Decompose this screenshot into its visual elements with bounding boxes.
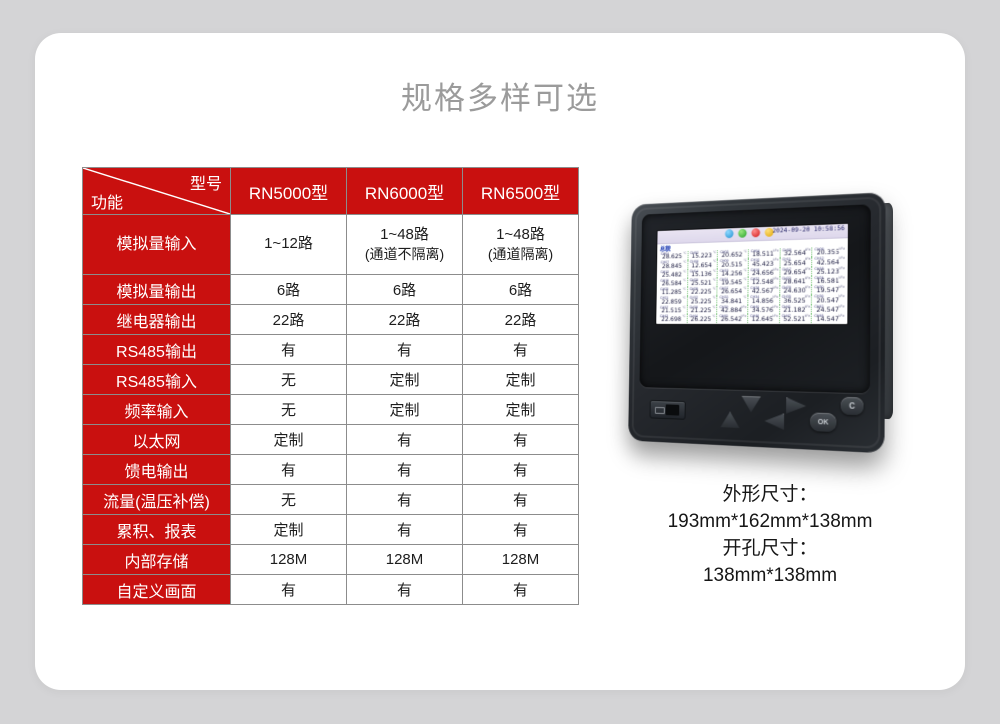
channel-unit: kPa [805,295,811,299]
channel-value: 26.225 [687,315,714,323]
channel-unit: kPa [772,304,777,308]
channel-unit: kPa [773,258,778,262]
device-body: 2024-09-20 10:58:56 总貌 CH01℃28.625CH02℃1… [628,192,885,453]
cell-value: 有 [463,335,579,365]
cell-value: 有 [463,515,579,545]
channel-cell: CH19℃26.584 [659,278,688,287]
channel-cell: CH37℃21.515 [658,305,687,314]
dimensions-block: 外形尺寸： 193mm*162mm*138mm 开孔尺寸： 138mm*138m… [600,481,940,589]
cell-value: 有 [347,515,463,545]
cell-value: 有 [347,425,463,455]
channel-cell: CH41kPa21.182 [780,304,812,314]
screen-statusbar: 2024-09-20 10:58:56 [657,224,848,245]
content-card: 规格多样可选 型号功能RN5000型RN6000型RN6500型模拟量输入1~1… [35,33,965,690]
outline-dimension-label: 外形尺寸： [600,481,940,508]
channel-cell: CH25℃11.285 [658,287,687,296]
settings-icon[interactable] [765,228,774,237]
channel-value: 45.423 [749,259,778,268]
channel-unit: kPa [805,285,811,289]
channel-unit: kPa [805,314,811,318]
channel-unit: kPa [773,267,778,271]
table-row: RS485输出有有有 [83,335,579,365]
key-up[interactable] [720,411,739,428]
channel-cell: CH32℃25.225 [688,296,718,305]
channel-value: 21.515 [658,306,685,314]
channel-cell: CH23kPa28.641 [780,276,812,286]
channel-unit: kPa [839,256,845,260]
cell-value: 有 [463,455,579,485]
channel-value: 24.630 [780,287,809,295]
channel-value: 29.654 [780,268,809,277]
channel-cell: CH24kPa16.581 [812,275,845,285]
channel-name: CH35 [782,295,791,299]
table-corner-cell: 型号功能 [83,168,231,215]
channel-name: CH17 [782,267,791,271]
channel-name: CH18 [814,266,823,270]
cell-value: 有 [231,455,347,485]
page-title: 规格多样可选 [35,73,965,118]
feature-label: 继电器输出 [83,305,231,335]
cell-sub: (通道隔离) [463,245,578,264]
channel-unit: kPa [839,313,845,317]
corner-model-label: 型号 [190,170,222,194]
cell-sub: (通道不隔离) [347,245,462,264]
spec-table-body: 型号功能RN5000型RN6000型RN6500型模拟量输入1~12路1~48路… [83,168,579,605]
channel-grid: CH01℃28.625CH02℃15.223CH03℃20.652CH04kPa… [658,247,846,324]
cell-value: 无 [231,485,347,515]
channel-unit: kPa [839,304,845,308]
channel-name: CH48 [814,314,823,318]
pen-icon[interactable] [725,229,734,238]
table-row: 模拟量输入1~12路1~48路(通道不隔离)1~48路(通道隔离) [83,215,579,275]
feature-label: 累积、报表 [83,515,231,545]
cell-value: 22路 [347,305,463,335]
channel-unit: kPa [805,276,811,280]
channel-cell: CH12kPa42.564 [812,256,845,266]
cutout-dimension-label: 开孔尺寸： [600,535,940,562]
device-screen[interactable]: 2024-09-20 10:58:56 总貌 CH01℃28.625CH02℃1… [656,224,848,324]
channel-cell: CH27℃26.654 [718,286,749,296]
channel-cell: CH16kPa24.656 [749,267,781,277]
outline-dimension-value: 193mm*162mm*138mm [600,508,940,535]
channel-cell: CH10kPa45.423 [749,258,781,268]
channel-cell: CH48kPa14.547 [812,313,845,323]
channel-cell: CH28kPa42.567 [748,286,780,296]
channel-value: 28.641 [780,277,809,286]
channel-value: 22.698 [658,315,685,323]
channel-unit: kPa [839,294,845,298]
channel-value: 20.547 [812,296,843,304]
key-ok[interactable]: OK [810,412,837,432]
table-row: 频率输入无定制定制 [83,395,579,425]
channel-name: CH23 [782,276,791,280]
feature-label: 流量(温压补偿) [83,485,231,515]
feature-label: 内部存储 [83,545,231,575]
cell-value: 有 [463,425,579,455]
channel-name: CH06 [815,247,824,251]
channel-unit: kPa [839,247,845,251]
usb-port-icon[interactable] [650,400,686,420]
table-row: 自定义画面有有有 [83,575,579,605]
channel-unit: kPa [773,276,778,280]
channel-unit: kPa [805,257,811,261]
cell-main: 1~48路 [496,226,545,243]
feature-label: 自定义画面 [83,575,231,605]
channel-cell: CH35kPa36.525 [780,295,812,305]
screen-timestamp: 2024-09-20 10:58:56 [772,225,844,235]
channel-unit: kPa [839,285,845,289]
table-row: 内部存储128M128M128M [83,545,579,575]
channel-cell: CH04kPa18.511 [749,248,781,258]
cell-value: 22路 [463,305,579,335]
channel-cell: CH43℃22.698 [658,314,687,323]
channel-value: 42.564 [812,257,843,266]
channel-unit: kPa [773,295,778,299]
channel-cell: CH31℃22.859 [658,296,687,305]
channel-name: CH05 [782,248,791,252]
channel-value: 16.581 [812,276,843,285]
channel-cell: CH33℃34.841 [718,295,749,304]
channel-value: 22.859 [658,297,685,305]
cell-value: 有 [463,485,579,515]
channel-value: 34.576 [748,306,777,314]
channel-value: 21.225 [687,306,714,314]
cell-value: 无 [231,395,347,425]
corner-feature-label: 功能 [91,189,123,213]
key-right[interactable] [786,397,806,414]
alarm-icon[interactable] [751,228,760,237]
channel-value: 26.542 [717,315,745,323]
feature-label: 模拟量输入 [83,215,231,275]
cell-value: 有 [231,335,347,365]
channel-value: 25.123 [812,267,843,276]
channel-value: 42.567 [748,287,777,295]
cell-value: 有 [347,455,463,485]
channel-unit: kPa [805,248,811,252]
table-column-header-3: RN6500型 [463,168,579,215]
screen-status-icons [725,228,774,239]
table-column-header-1: RN5000型 [231,168,347,215]
paperless-recorder-device: 2024-09-20 10:58:56 总貌 CH01℃28.625CH02℃1… [628,192,885,453]
channel-cell: CH21℃19.545 [718,277,749,287]
cell-value: 定制 [463,395,579,425]
channel-cell: CH05kPa32.564 [780,247,812,257]
channel-value: 52.521 [780,315,809,323]
channel-value: 25.225 [688,297,715,305]
key-down[interactable] [741,396,760,413]
specification-table: 型号功能RN5000型RN6000型RN6500型模拟量输入1~12路1~48路… [82,167,579,605]
channel-value: 24.547 [812,305,843,313]
cell-value: 有 [231,575,347,605]
channel-value: 20.355 [813,248,844,257]
channel-cell: CH42kPa24.547 [812,304,845,314]
cell-value: 定制 [463,365,579,395]
channel-unit: kPa [839,275,845,279]
channel-value: 21.182 [780,305,809,313]
cell-value: 128M [463,545,579,575]
table-row: 继电器输出22路22路22路 [83,305,579,335]
cell-value: 有 [347,335,463,365]
cell-value: 22路 [231,305,347,335]
channel-name: CH24 [814,276,823,280]
channel-value: 24.656 [749,268,778,277]
channel-cell: CH11kPa25.654 [780,257,812,267]
table-row: 模拟量输出6路6路6路 [83,275,579,305]
channel-cell: CH39kPa42.884 [717,305,748,314]
channel-cell: CH06kPa20.355 [813,247,846,257]
channel-unit: kPa [805,304,811,308]
channel-value: 14.547 [812,315,843,323]
cell-value: 有 [463,575,579,605]
cell-value: 有 [347,575,463,605]
channel-value: 14.856 [748,296,777,304]
key-left[interactable] [764,413,784,430]
channel-cell: CH44℃26.225 [687,314,717,323]
channel-cell: CH36kPa20.547 [812,294,845,304]
channel-name: CH42 [814,304,823,308]
feature-label: 以太网 [83,425,231,455]
feature-label: RS485输出 [83,335,231,365]
channel-cell: CH45kPa26.542 [717,314,748,323]
cell-value: 定制 [347,365,463,395]
cell-value: 128M [347,545,463,575]
channel-value: 25.654 [780,258,809,267]
channel-name: CH29 [782,286,791,290]
channel-cell: CH40kPa34.576 [748,304,780,313]
cell-value: 1~48路(通道不隔离) [347,215,463,275]
table-header-row: 型号功能RN5000型RN6000型RN6500型 [83,168,579,215]
channel-cell: CH18kPa25.123 [812,266,845,276]
cell-value: 6路 [347,275,463,305]
device-illustration: 2024-09-20 10:58:56 总貌 CH01℃28.625CH02℃1… [600,188,940,478]
cell-value: 1~48路(通道隔离) [463,215,579,275]
channel-value: 34.841 [718,297,746,305]
channel-name: CH11 [782,257,791,261]
channel-value: 32.564 [780,249,809,258]
feature-label: 模拟量输出 [83,275,231,305]
key-cancel[interactable]: C [841,397,864,416]
cell-value: 无 [231,365,347,395]
channel-cell: CH46kPa12.645 [748,314,780,323]
channel-value: 12.645 [748,315,777,323]
cell-value: 定制 [231,425,347,455]
channel-value: 42.884 [717,306,745,314]
cell-value: 6路 [463,275,579,305]
channel-cell: CH30kPa19.547 [812,285,845,295]
channel-cell: CH29kPa24.630 [780,285,812,295]
channel-unit: kPa [773,248,778,252]
device-bezel: 2024-09-20 10:58:56 总貌 CH01℃28.625CH02℃1… [639,204,870,393]
channel-value: 18.511 [749,250,778,259]
cell-main: 1~48路 [380,226,429,243]
cell-value: 128M [231,545,347,575]
table-column-header-2: RN6000型 [347,168,463,215]
channel-unit: kPa [839,266,845,270]
channel-name: CH41 [782,304,791,308]
channel-name: CH47 [782,314,791,318]
feature-label: 频率输入 [83,395,231,425]
channel-cell: CH34kPa14.856 [748,295,780,305]
cell-value: 6路 [231,275,347,305]
feature-label: RS485输入 [83,365,231,395]
channel-value: 12.548 [749,278,778,286]
channel-value: 36.525 [780,296,809,304]
table-row: 流量(温压补偿)无有有 [83,485,579,515]
channel-unit: kPa [805,266,811,270]
cell-value: 定制 [231,515,347,545]
channel-cell: CH20℃25.521 [688,277,718,287]
cell-value: 定制 [347,395,463,425]
feature-label: 馈电输出 [83,455,231,485]
cutout-dimension-value: 138mm*138mm [600,562,940,589]
channel-cell: CH38℃21.225 [687,305,717,314]
channel-cell: CH17kPa29.654 [780,266,812,276]
channel-value: 19.547 [812,286,843,295]
table-row: 馈电输出有有有 [83,455,579,485]
channel-cell: CH47kPa52.521 [780,314,812,323]
record-icon[interactable] [738,229,747,238]
cell-value: 有 [347,485,463,515]
channel-cell: CH22kPa12.548 [749,276,781,286]
channel-cell: CH26℃22.225 [688,287,718,296]
table-row: 以太网定制有有 [83,425,579,455]
channel-unit: kPa [773,286,778,290]
cell-value: 1~12路 [231,215,347,275]
table-row: 累积、报表定制有有 [83,515,579,545]
channel-name: CH12 [815,257,824,261]
channel-name: CH36 [814,295,823,299]
device-keypad: OK C [639,391,870,442]
channel-name: CH30 [814,285,823,289]
table-row: RS485输入无定制定制 [83,365,579,395]
channel-unit: kPa [772,314,777,318]
